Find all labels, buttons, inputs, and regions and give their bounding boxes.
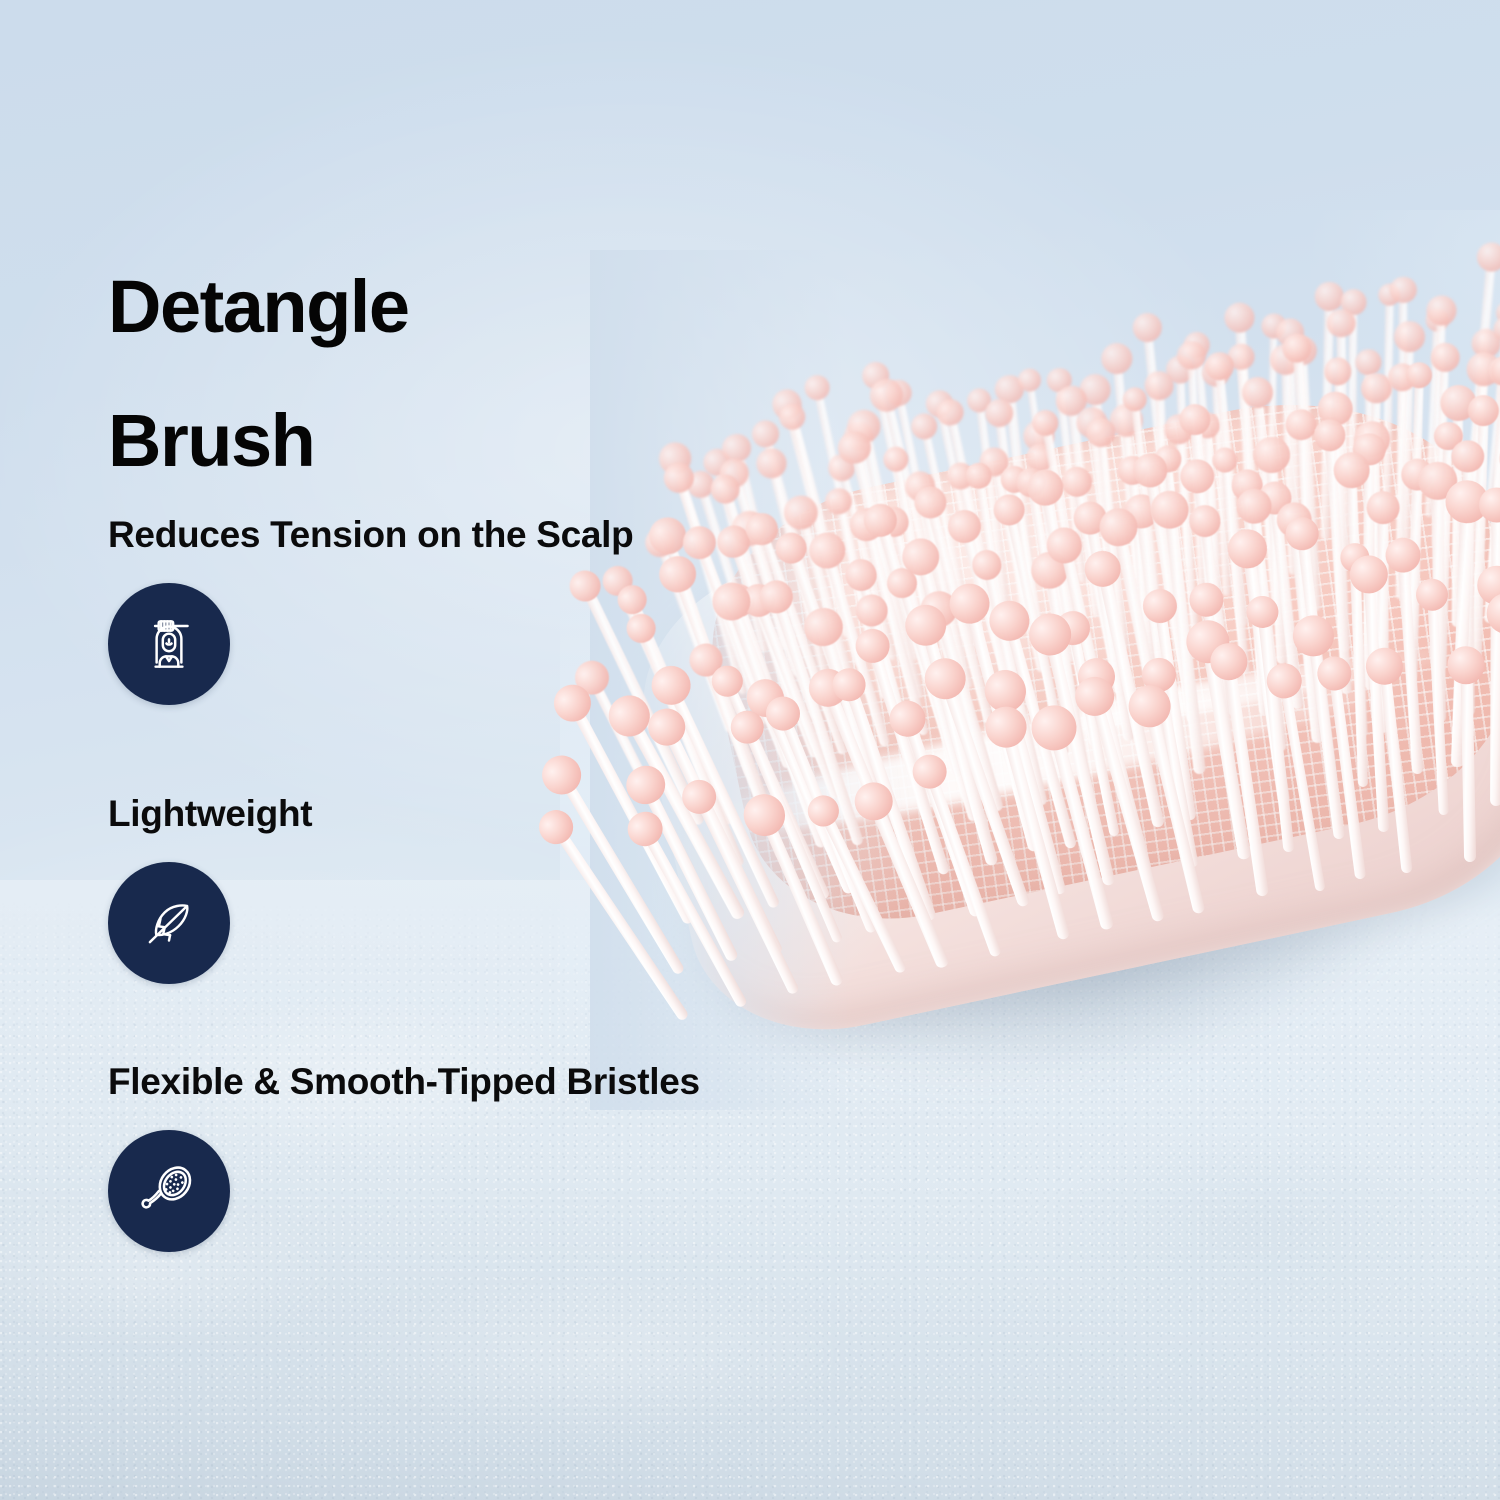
page-title: Detangle Brush: [108, 196, 409, 552]
bristle-ball-tip: [1016, 367, 1043, 394]
bristle-ball-tip: [1451, 440, 1484, 473]
bristle-ball-tip: [1355, 349, 1381, 375]
bristle-ball-tip: [1467, 394, 1499, 426]
copy-column: Detangle Brush Reduces Tension on the Sc…: [108, 0, 868, 1500]
bristle-ball-tip: [1324, 358, 1352, 386]
feature-item-reduces-tension: Reduces Tension on the Scalp: [108, 516, 633, 705]
title-line-2: Brush: [108, 404, 409, 478]
bristle-ball-tip: [1430, 342, 1460, 372]
bristle-ball-tip: [1282, 333, 1313, 364]
bristle-ball-tip: [1223, 302, 1255, 334]
feature-label: Lightweight: [108, 795, 312, 832]
feature-badge: [108, 862, 230, 984]
bristle-ball-tip: [1326, 309, 1355, 338]
feature-item-flexible-bristles: Flexible & Smooth-Tipped Bristles: [108, 1063, 700, 1252]
woman-brushing-hair-icon: [136, 611, 202, 677]
feature-item-lightweight: Lightweight: [108, 795, 312, 984]
feature-badge: [108, 1130, 230, 1252]
bristle-ball-tip: [1415, 578, 1449, 612]
brush-bristle: [1487, 610, 1500, 848]
feature-label: Reduces Tension on the Scalp: [108, 516, 633, 553]
bristle-ball-tip: [1367, 491, 1400, 524]
bristle-ball-tip: [1284, 408, 1317, 441]
bristle-ball-tip: [1333, 452, 1370, 489]
bristle-ball-tip: [1100, 342, 1134, 376]
title-line-1: Detangle: [108, 265, 409, 348]
feature-label: Flexible & Smooth-Tipped Bristles: [108, 1063, 700, 1100]
bristle-ball-tip: [1447, 646, 1485, 684]
bristle-ball-tip: [1144, 371, 1174, 401]
bristle-ball-tip: [1406, 362, 1433, 389]
bristle-ball-tip: [1313, 419, 1347, 453]
hairbrush-icon: [135, 1157, 203, 1225]
bristle-ball-tip: [1384, 537, 1422, 575]
bristle-ball-tip: [1390, 277, 1416, 303]
bristle-ball-tip: [1131, 312, 1163, 344]
bristle-shaft: [1460, 662, 1476, 863]
product-feature-graphic: Detangle Brush Reduces Tension on the Sc…: [0, 0, 1500, 1500]
bristle-ball-tip: [1426, 295, 1456, 325]
bristle-ball-tip: [1394, 321, 1425, 352]
brush-bristle: [1447, 662, 1488, 863]
feather-icon: [135, 889, 203, 957]
feature-badge: [108, 583, 230, 705]
bristle-shaft: [1427, 592, 1449, 815]
